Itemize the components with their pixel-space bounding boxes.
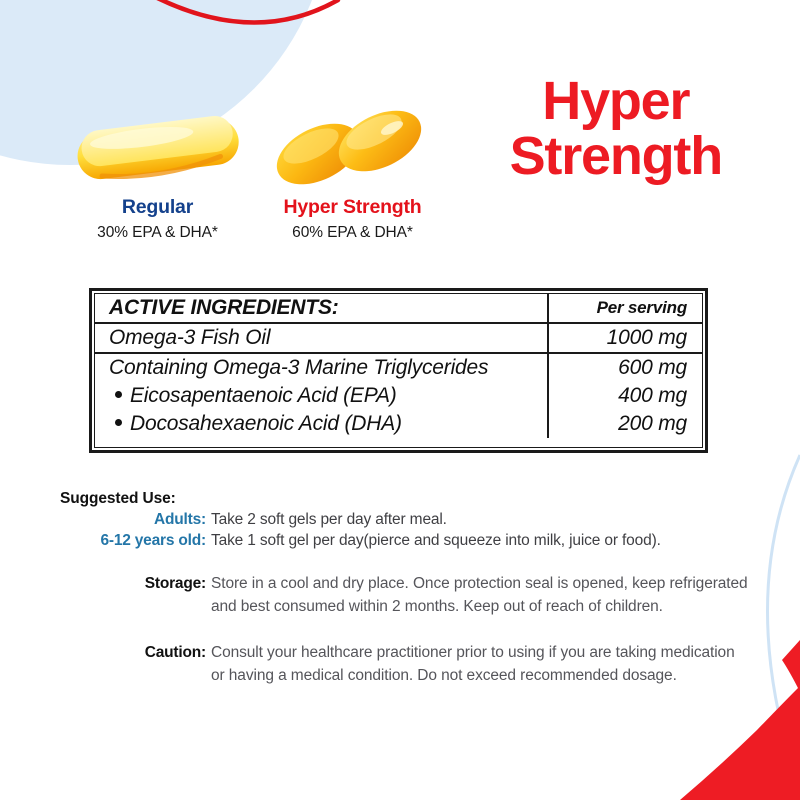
variant-potency-regular: 30% EPA & DHA* xyxy=(97,224,218,242)
variant-comparison: Regular 30% EPA & DHA* xyxy=(60,100,460,242)
ingredients-header-block: ACTIVE INGREDIENTS: Per serving xyxy=(95,294,702,322)
bullet-icon xyxy=(115,391,122,398)
table-row: Eicosapentaenoic Acid (EPA) 400 mg xyxy=(95,382,702,410)
variant-potency-hyper: 60% EPA & DHA* xyxy=(292,224,413,242)
ingredients-group-2: Containing Omega-3 Marine Triglycerides … xyxy=(95,352,702,447)
variant-name-regular: Regular xyxy=(122,196,193,219)
variant-regular: Regular 30% EPA & DHA* xyxy=(60,100,255,242)
red-wedge-shape xyxy=(680,686,800,800)
directions-section: Suggested Use: Adults: Take 2 soft gels … xyxy=(60,490,760,687)
ingredient-amount: 400 mg xyxy=(547,382,702,410)
softgel-capsule-regular-icon xyxy=(63,100,253,190)
ingredient-name-text: Docosahexaenoic Acid (DHA) xyxy=(130,412,402,435)
red-wedge-upper-shape xyxy=(782,640,800,692)
ingredient-amount: 200 mg xyxy=(547,410,702,438)
ingredient-name-text: Eicosapentaenoic Acid (EPA) xyxy=(130,384,397,407)
caution-label: Caution: xyxy=(60,644,211,662)
ingredient-name: Docosahexaenoic Acid (DHA) xyxy=(95,410,547,438)
blue-thin-arc-shape xyxy=(768,455,800,790)
ingredient-name: Eicosapentaenoic Acid (EPA) xyxy=(95,382,547,410)
storage-text: Store in a cool and dry place. Once prot… xyxy=(211,572,751,619)
ingredients-group-1: Omega-3 Fish Oil 1000 mg xyxy=(95,322,702,352)
table-header-value: Per serving xyxy=(547,294,702,322)
variant-name-hyper: Hyper Strength xyxy=(283,196,421,219)
table-row: Containing Omega-3 Marine Triglycerides … xyxy=(95,354,702,382)
table-header-row: ACTIVE INGREDIENTS: Per serving xyxy=(95,294,702,322)
dose-line-adults: Adults: Take 2 soft gels per day after m… xyxy=(60,511,760,529)
dose-text-children: Take 1 soft gel per day(pierce and squee… xyxy=(211,532,760,550)
softgel-capsule-hyper-icon xyxy=(258,100,448,190)
ingredient-amount: 1000 mg xyxy=(547,324,702,352)
dose-label-adults: Adults: xyxy=(60,511,211,529)
page-title-line-2: Strength xyxy=(510,129,722,184)
caution-text: Consult your healthcare practitioner pri… xyxy=(211,641,751,688)
page-title-line-1: Hyper xyxy=(510,74,722,129)
storage-note: Storage: Store in a cool and dry place. … xyxy=(60,572,760,619)
dose-label-children: 6-12 years old: xyxy=(60,532,211,550)
suggested-use-heading: Suggested Use: xyxy=(60,490,760,508)
table-row: Docosahexaenoic Acid (DHA) 200 mg xyxy=(95,410,702,447)
page-title: Hyper Strength xyxy=(510,74,722,184)
product-info-panel: Regular 30% EPA & DHA* xyxy=(0,0,800,800)
ingredient-amount: 600 mg xyxy=(547,354,702,382)
dose-line-children: 6-12 years old: Take 1 soft gel per day(… xyxy=(60,532,760,550)
caution-note: Caution: Consult your healthcare practit… xyxy=(60,641,760,688)
bullet-icon xyxy=(115,419,122,426)
ingredient-name: Omega-3 Fish Oil xyxy=(95,324,547,352)
storage-label: Storage: xyxy=(60,575,211,593)
active-ingredients-table: ACTIVE INGREDIENTS: Per serving Omega-3 … xyxy=(89,288,708,453)
variant-hyper: Hyper Strength 60% EPA & DHA* xyxy=(255,100,450,242)
dose-text-adults: Take 2 soft gels per day after meal. xyxy=(211,511,760,529)
table-header-label: ACTIVE INGREDIENTS: xyxy=(95,294,547,322)
table-row: Omega-3 Fish Oil 1000 mg xyxy=(95,324,702,352)
ingredient-name: Containing Omega-3 Marine Triglycerides xyxy=(95,354,547,382)
red-arc-shape xyxy=(95,0,338,23)
